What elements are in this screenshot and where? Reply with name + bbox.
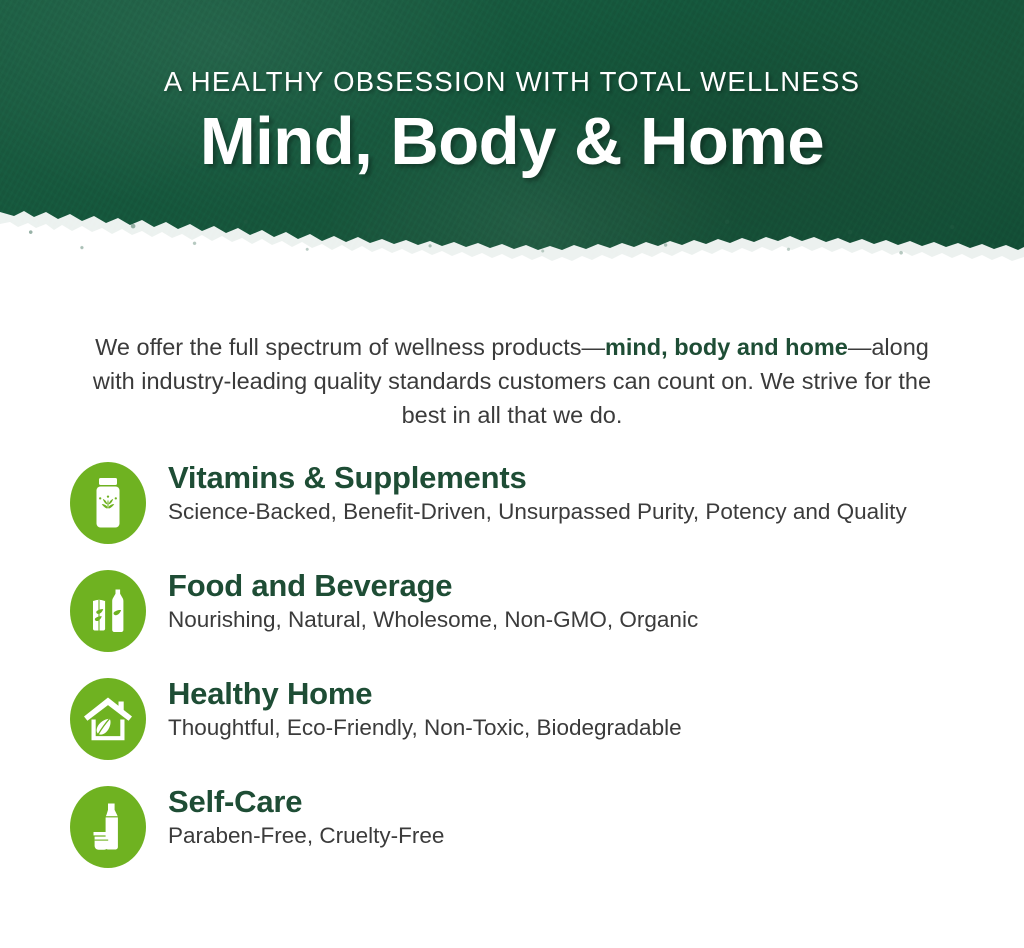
- feature-body: Vitamins & Supplements Science-Backed, B…: [146, 458, 907, 526]
- supplement-bottle-icon: [70, 462, 146, 544]
- feature-title: Healthy Home: [168, 676, 682, 712]
- intro-text-part1: We offer the full spectrum of wellness p…: [95, 334, 605, 360]
- feature-title: Food and Beverage: [168, 568, 698, 604]
- food-pouch-and-bottle-icon: [70, 570, 146, 652]
- feature-title: Vitamins & Supplements: [168, 460, 907, 496]
- feature-description: Nourishing, Natural, Wholesome, Non-GMO,…: [168, 606, 698, 635]
- list-item: Food and Beverage Nourishing, Natural, W…: [0, 566, 1024, 652]
- list-item: Vitamins & Supplements Science-Backed, B…: [0, 458, 1024, 544]
- feature-body: Self-Care Paraben-Free, Cruelty-Free: [146, 782, 444, 850]
- hero-text-block: A HEALTHY OBSESSION WITH TOTAL WELLNESS …: [0, 0, 1024, 178]
- list-item: Self-Care Paraben-Free, Cruelty-Free: [0, 782, 1024, 868]
- bottle-and-jar-icon: [70, 786, 146, 868]
- feature-body: Healthy Home Thoughtful, Eco-Friendly, N…: [146, 674, 682, 742]
- feature-body: Food and Beverage Nourishing, Natural, W…: [146, 566, 698, 634]
- feature-list: Vitamins & Supplements Science-Backed, B…: [0, 432, 1024, 868]
- house-with-leaf-icon: [70, 678, 146, 760]
- hero-eyebrow: A HEALTHY OBSESSION WITH TOTAL WELLNESS: [0, 0, 1024, 98]
- intro-paragraph: We offer the full spectrum of wellness p…: [72, 290, 952, 432]
- list-item: Healthy Home Thoughtful, Eco-Friendly, N…: [0, 674, 1024, 760]
- feature-description: Paraben-Free, Cruelty-Free: [168, 822, 444, 851]
- feature-description: Thoughtful, Eco-Friendly, Non-Toxic, Bio…: [168, 714, 682, 743]
- page-title: Mind, Body & Home: [0, 98, 1024, 178]
- feature-title: Self-Care: [168, 784, 444, 820]
- feature-description: Science-Backed, Benefit-Driven, Unsurpas…: [168, 498, 907, 527]
- intro-emphasis: mind, body and home: [605, 334, 848, 360]
- hero-banner: A HEALTHY OBSESSION WITH TOTAL WELLNESS …: [0, 0, 1024, 290]
